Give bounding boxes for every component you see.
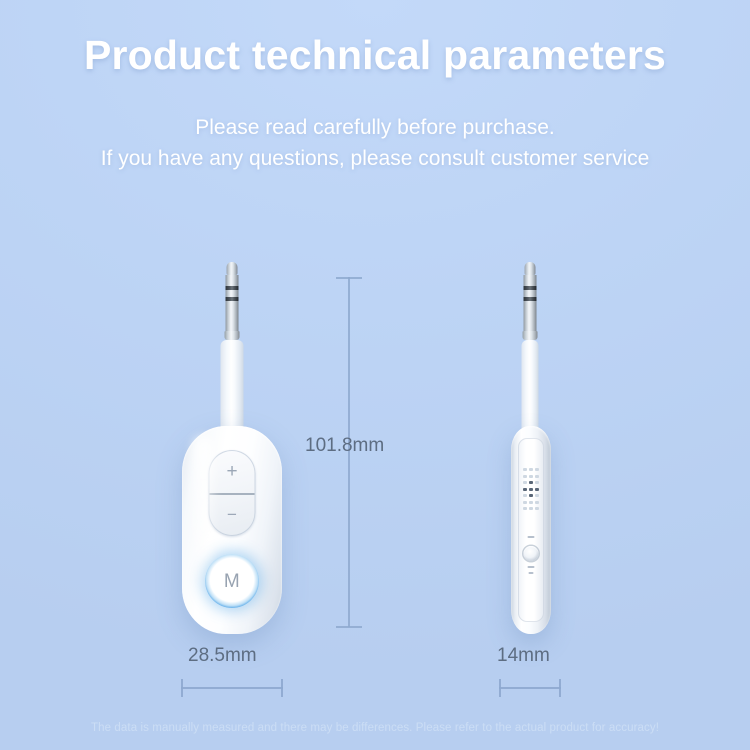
side-marking bbox=[529, 572, 534, 574]
grille-dot bbox=[529, 481, 532, 484]
height-dimension-label: 101.8mm bbox=[305, 435, 384, 457]
grille-dot bbox=[523, 468, 526, 471]
device-front-view: + − M bbox=[172, 262, 292, 642]
grille-dot bbox=[529, 494, 532, 497]
side-marking bbox=[528, 536, 535, 538]
side-width-cap-right bbox=[559, 679, 561, 697]
product-spec-canvas: Product technical parameters Please read… bbox=[0, 0, 750, 750]
grille-dot bbox=[535, 488, 538, 491]
plug-collar bbox=[523, 331, 538, 340]
plug-insulator-ring bbox=[226, 297, 239, 301]
grille-dot bbox=[535, 494, 538, 497]
height-dimension-cap-bottom bbox=[336, 626, 362, 628]
grille-dot bbox=[523, 501, 526, 504]
grille-dot bbox=[523, 475, 526, 478]
grille-dot bbox=[535, 475, 538, 478]
speaker-grille-icon bbox=[523, 470, 539, 510]
grille-dot bbox=[529, 507, 532, 510]
subtitle-line-1: Please read carefully before purchase. bbox=[0, 112, 750, 143]
device-side-view bbox=[492, 262, 568, 642]
front-width-dimension-line bbox=[181, 687, 283, 689]
grille-dot bbox=[535, 501, 538, 504]
mode-button-label: M bbox=[224, 572, 240, 591]
plug-tip bbox=[525, 262, 536, 275]
plug-collar bbox=[225, 331, 240, 340]
plug-insulator-ring bbox=[524, 286, 537, 290]
side-width-dimension-line bbox=[499, 687, 561, 689]
grille-dot bbox=[535, 481, 538, 484]
side-panel bbox=[518, 438, 544, 622]
volume-rocker-button[interactable]: + − bbox=[209, 450, 256, 536]
plug-tip bbox=[227, 262, 238, 275]
plug-insulator-ring bbox=[226, 286, 239, 290]
grille-dot bbox=[523, 494, 526, 497]
mode-button[interactable]: M bbox=[205, 554, 259, 608]
grille-dot bbox=[535, 468, 538, 471]
side-marking bbox=[528, 566, 535, 568]
grille-dot bbox=[523, 507, 526, 510]
plug-shaft bbox=[524, 275, 537, 331]
grille-dot bbox=[523, 488, 526, 491]
device-body-side bbox=[511, 426, 551, 634]
audio-jack-plug-icon bbox=[225, 262, 240, 340]
grille-dot bbox=[529, 475, 532, 478]
power-switch-button[interactable] bbox=[524, 546, 539, 561]
device-body-front: + − M bbox=[182, 426, 282, 634]
header-subtitle: Please read carefully before purchase. I… bbox=[0, 112, 750, 174]
audio-jack-plug-icon bbox=[523, 262, 538, 340]
page-title: Product technical parameters bbox=[0, 32, 750, 79]
grille-dot bbox=[529, 501, 532, 504]
side-width-dimension-label: 14mm bbox=[497, 645, 550, 667]
plug-shaft bbox=[226, 275, 239, 331]
front-width-cap-right bbox=[281, 679, 283, 697]
measurement-disclaimer: The data is manually measured and there … bbox=[0, 722, 750, 734]
front-width-dimension-label: 28.5mm bbox=[188, 645, 257, 667]
grille-dot bbox=[523, 481, 526, 484]
grille-dot bbox=[529, 468, 532, 471]
subtitle-line-2: If you have any questions, please consul… bbox=[0, 143, 750, 174]
volume-down-button[interactable]: − bbox=[209, 493, 256, 536]
grille-dot bbox=[529, 488, 532, 491]
grille-dot bbox=[535, 507, 538, 510]
volume-up-button[interactable]: + bbox=[209, 450, 256, 493]
plug-insulator-ring bbox=[524, 297, 537, 301]
